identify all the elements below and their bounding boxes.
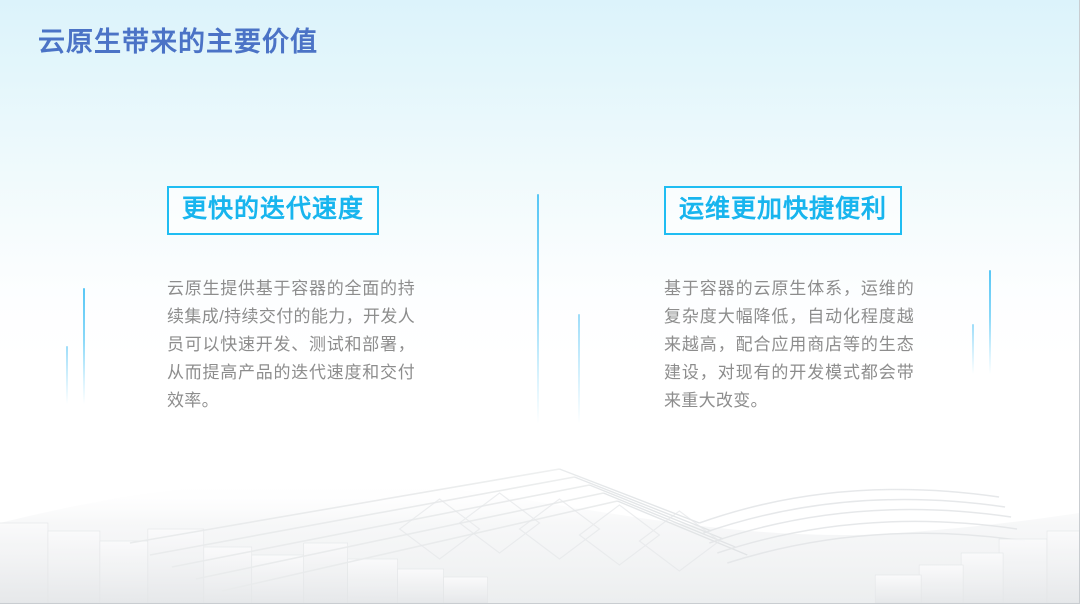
value-card-left-heading: 更快的迭代速度: [167, 186, 379, 235]
value-card-right-body: 基于容器的云原生体系，运维的复杂度大幅降低，自动化程度越来越高，配合应用商店等的…: [664, 275, 914, 415]
slide-canvas: 云原生带来的主要价值 更快的迭代速度 云原生提供基于容器的全面的持续集成/持续交…: [0, 0, 1080, 604]
value-card-left: 更快的迭代速度 云原生提供基于容器的全面的持续集成/持续交付的能力，开发人员可以…: [167, 186, 417, 415]
value-card-left-body: 云原生提供基于容器的全面的持续集成/持续交付的能力，开发人员可以快速开发、测试和…: [167, 275, 415, 415]
value-card-right: 运维更加快捷便利 基于容器的云原生体系，运维的复杂度大幅降低，自动化程度越来越高…: [664, 186, 914, 415]
value-columns: 更快的迭代速度 云原生提供基于容器的全面的持续集成/持续交付的能力，开发人员可以…: [0, 186, 1080, 426]
page-title: 云原生带来的主要价值: [38, 20, 318, 59]
value-card-right-heading: 运维更加快捷便利: [664, 186, 902, 235]
